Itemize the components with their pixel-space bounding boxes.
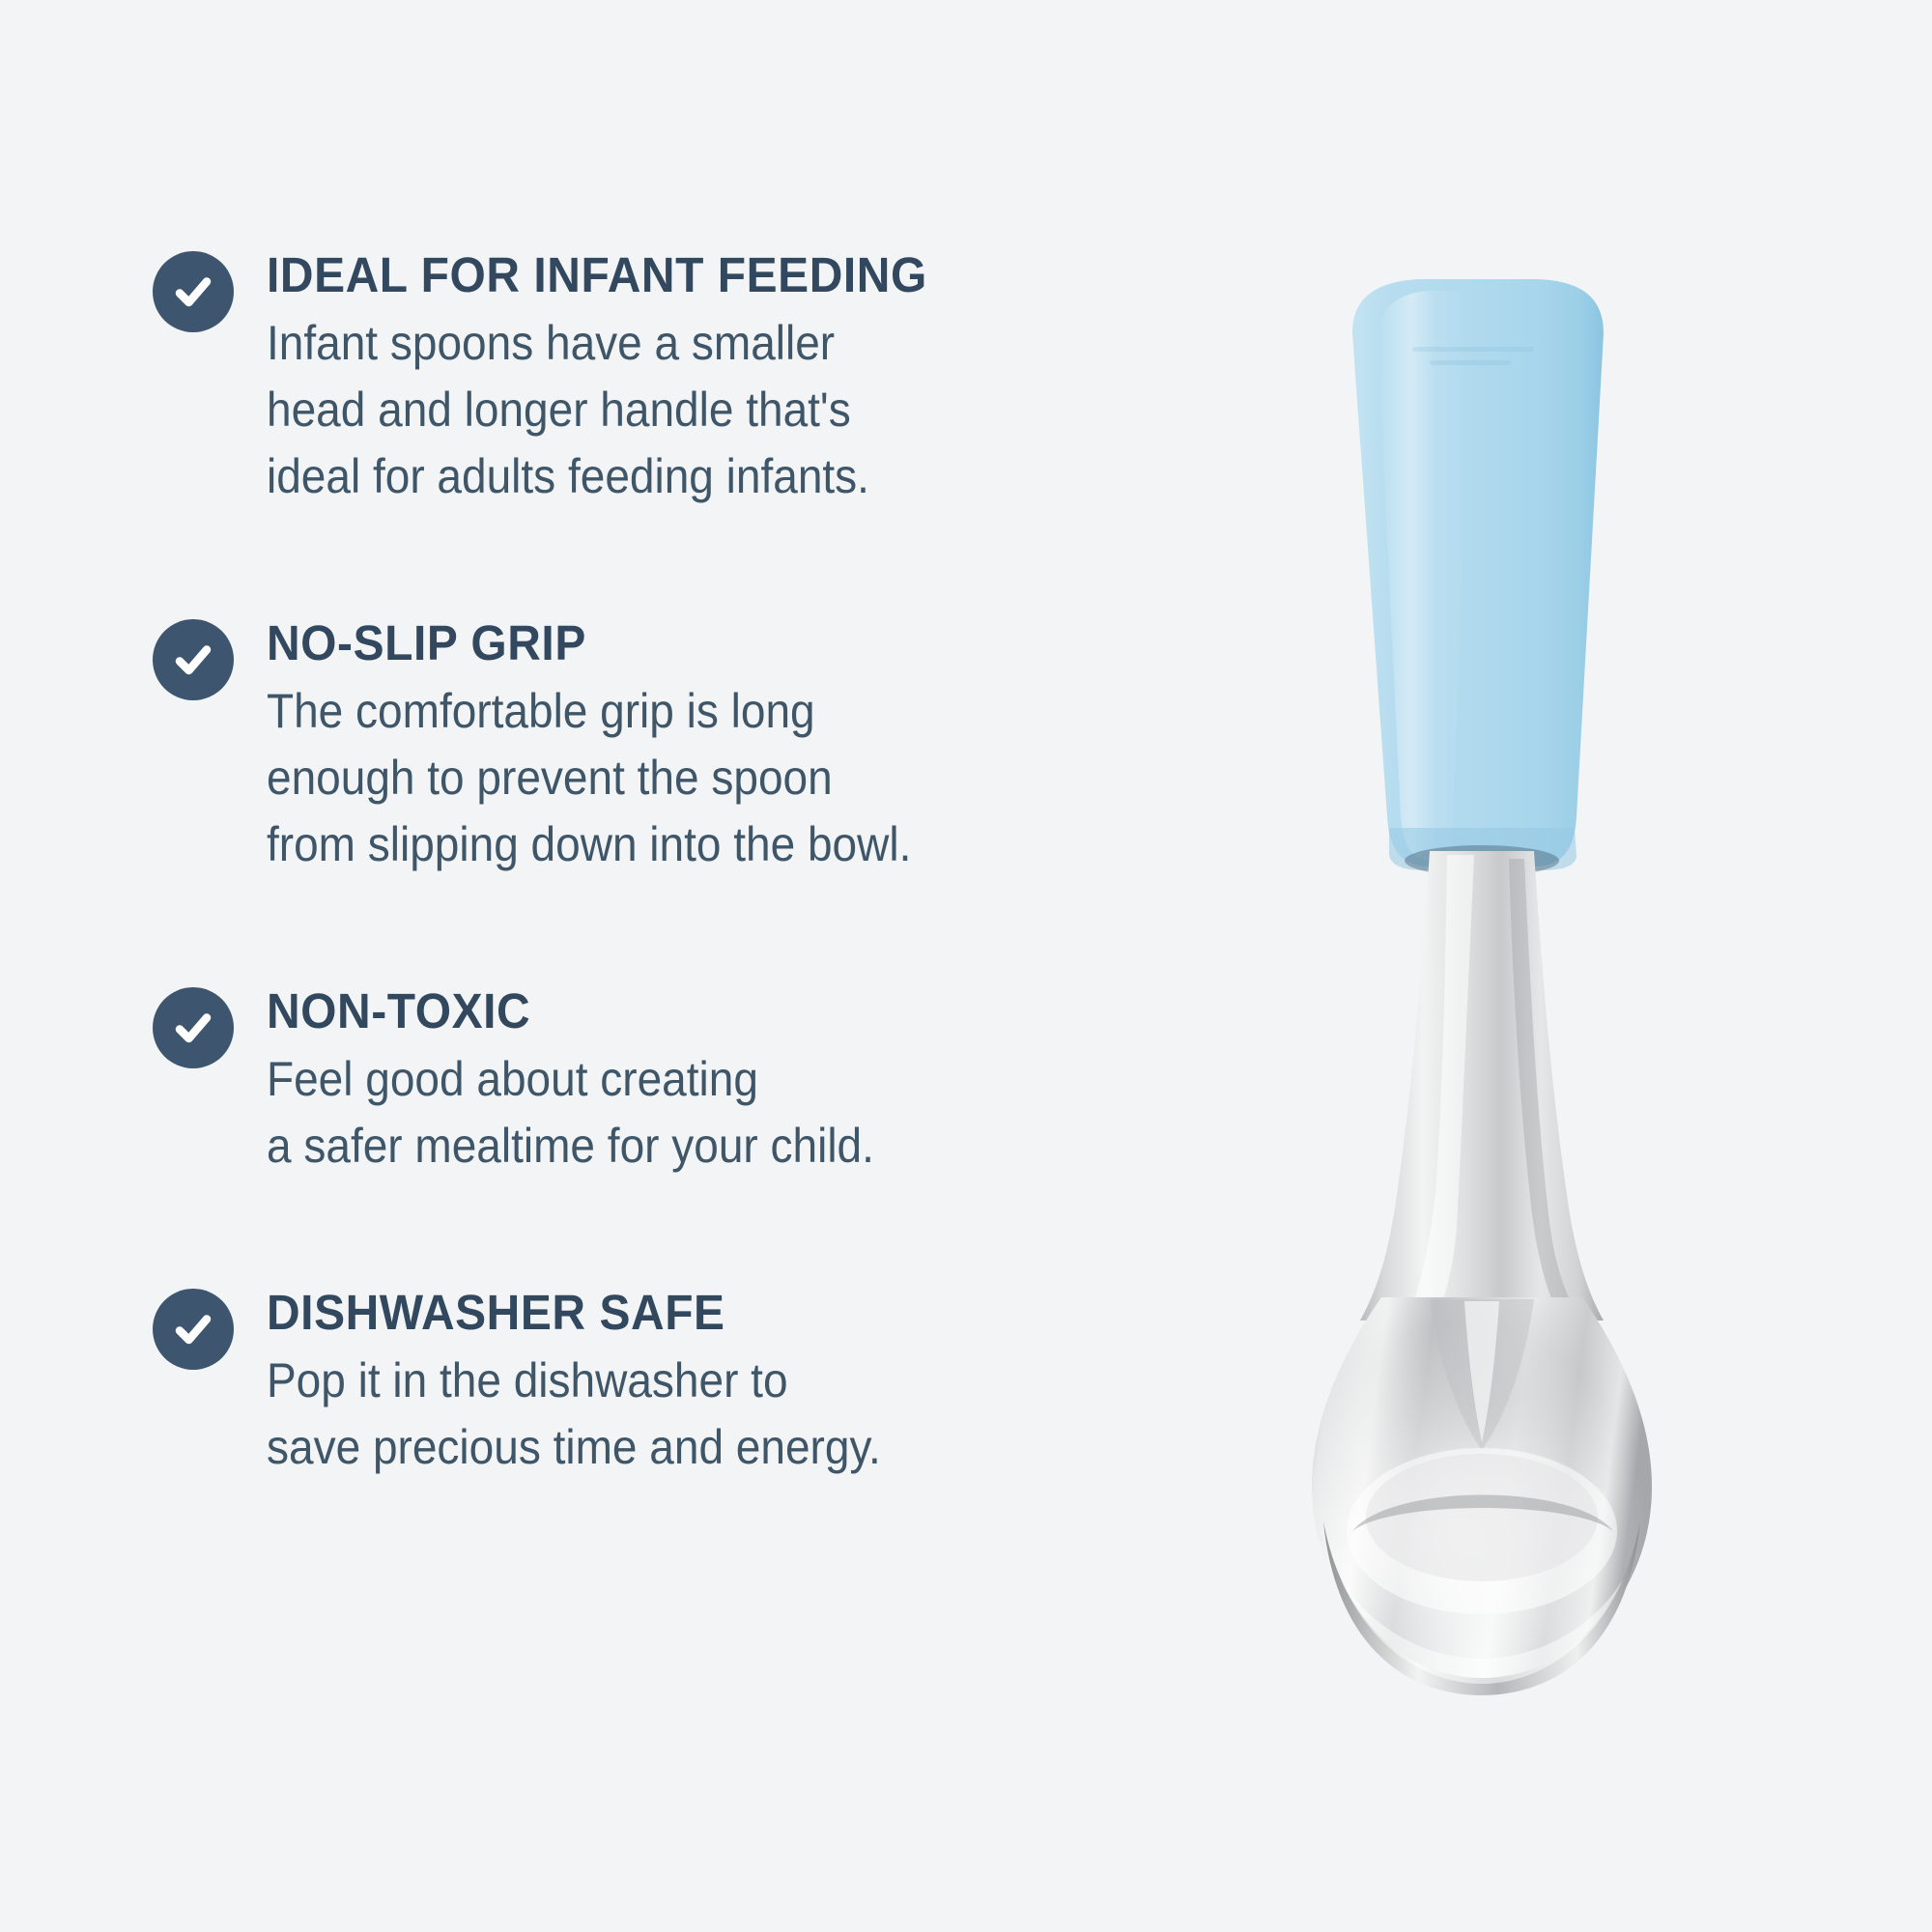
check-circle-icon xyxy=(153,251,234,332)
feature-body-line: Feel good about creating xyxy=(267,1046,874,1113)
feature-body-line: Pop it in the dishwasher to xyxy=(267,1348,881,1414)
feature-item: DISHWASHER SAFE Pop it in the dishwasher… xyxy=(153,1284,1119,1481)
feature-heading: IDEAL FOR INFANT FEEDING xyxy=(267,246,927,304)
feature-body-line: from slipping down into the bowl. xyxy=(267,811,911,878)
feature-body-line: a safer mealtime for your child. xyxy=(267,1113,874,1179)
product-image-spoon xyxy=(1285,275,1739,1724)
feature-list: IDEAL FOR INFANT FEEDING Infant spoons h… xyxy=(153,246,1119,1481)
feature-item: IDEAL FOR INFANT FEEDING Infant spoons h… xyxy=(153,246,1119,510)
stainless-steel-neck xyxy=(1360,851,1604,1321)
feature-text: DISHWASHER SAFE Pop it in the dishwasher… xyxy=(267,1284,934,1481)
feature-text: NO-SLIP GRIP The comfortable grip is lon… xyxy=(267,614,967,878)
spoon-bowl xyxy=(1312,1297,1652,1695)
product-feature-panel: IDEAL FOR INFANT FEEDING Infant spoons h… xyxy=(0,0,1932,1932)
feature-body-line: head and longer handle that's xyxy=(267,377,913,443)
feature-body: Feel good about creating a safer mealtim… xyxy=(267,1046,874,1179)
check-circle-icon xyxy=(153,987,234,1068)
feature-body: The comfortable grip is long enough to p… xyxy=(267,678,911,878)
silicone-handle xyxy=(1352,279,1604,876)
feature-body-line: The comfortable grip is long xyxy=(267,678,911,745)
feature-body-line: save precious time and energy. xyxy=(267,1414,881,1481)
feature-heading: NO-SLIP GRIP xyxy=(267,614,925,672)
feature-body-line: Infant spoons have a smaller xyxy=(267,310,913,377)
feature-body: Pop it in the dishwasher to save preciou… xyxy=(267,1348,881,1481)
feature-heading: NON-TOXIC xyxy=(267,982,888,1040)
feature-heading: DISHWASHER SAFE xyxy=(267,1284,895,1342)
feature-body: Infant spoons have a smaller head and lo… xyxy=(267,310,913,510)
feature-body-line: ideal for adults feeding infants. xyxy=(267,443,913,510)
feature-text: NON-TOXIC Feel good about creating a saf… xyxy=(267,982,927,1179)
feature-body-line: enough to prevent the spoon xyxy=(267,745,911,811)
check-circle-icon xyxy=(153,1289,234,1370)
feature-item: NON-TOXIC Feel good about creating a saf… xyxy=(153,982,1119,1179)
feature-text: IDEAL FOR INFANT FEEDING Infant spoons h… xyxy=(267,246,969,510)
feature-item: NO-SLIP GRIP The comfortable grip is lon… xyxy=(153,614,1119,878)
check-circle-icon xyxy=(153,619,234,700)
